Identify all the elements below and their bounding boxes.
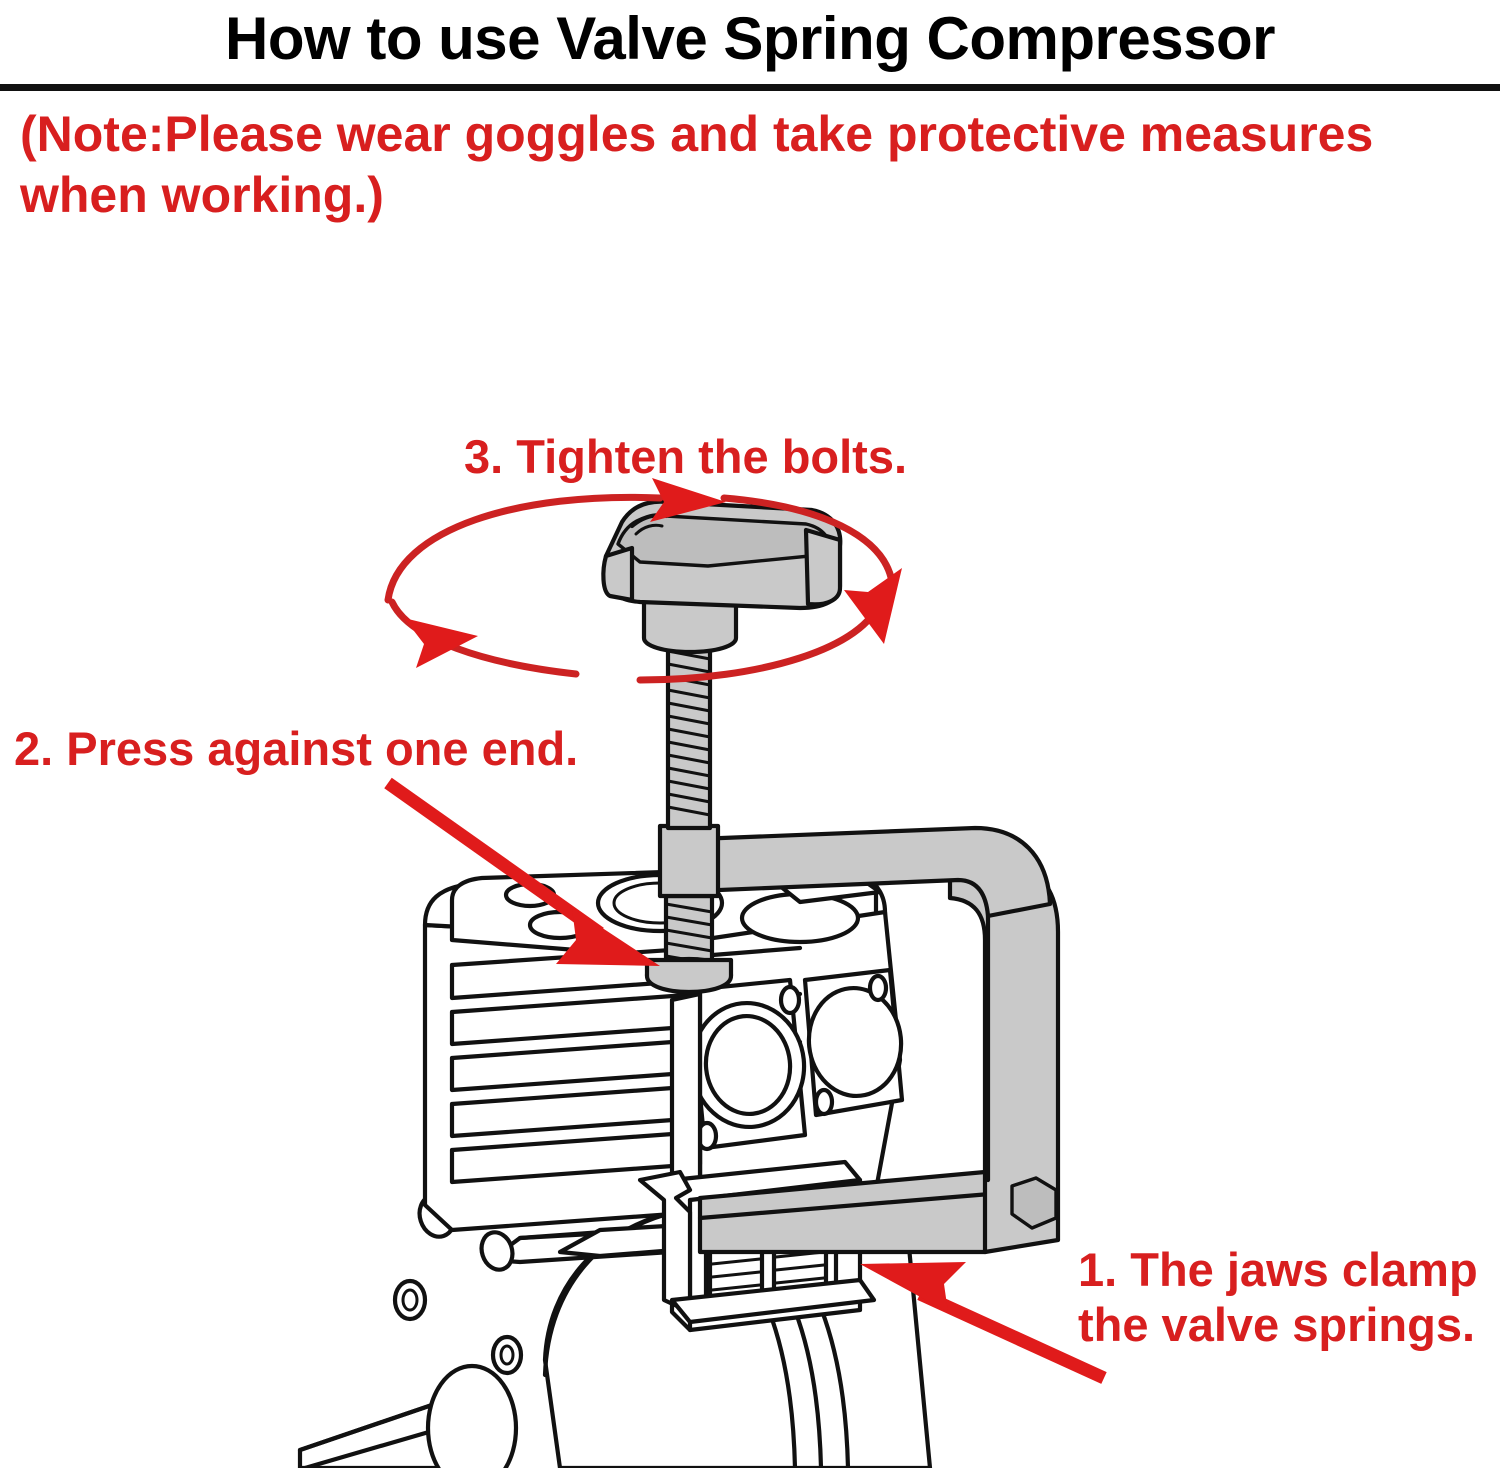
header-divider	[0, 84, 1500, 91]
instruction-diagram-page: How to use Valve Spring Compressor (Note…	[0, 0, 1500, 1468]
page-title: How to use Valve Spring Compressor	[0, 0, 1500, 80]
hex-bolt	[1012, 1178, 1056, 1228]
valve-spring-compressor-illustration	[0, 300, 1500, 1468]
screw-foot	[647, 959, 731, 992]
thumb-knob	[603, 502, 840, 652]
screw-collar	[660, 826, 718, 896]
safety-note: (Note:Please wear goggles and take prote…	[20, 104, 1490, 226]
